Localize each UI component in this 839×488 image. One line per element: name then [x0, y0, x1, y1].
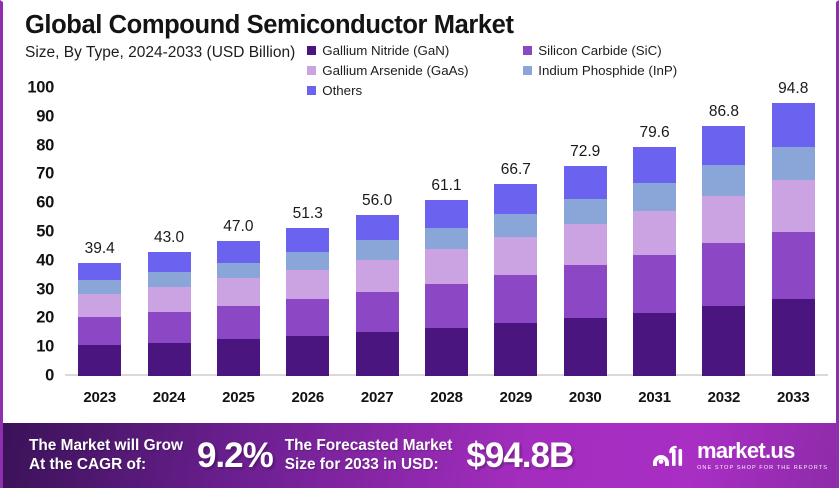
bar-segment[interactable]: [78, 294, 121, 317]
y-axis-tick: 40: [36, 251, 54, 270]
legend-item[interactable]: Gallium Arsenide (GaAs): [307, 63, 523, 78]
bar-total-label: 66.7: [501, 161, 531, 179]
bar-segment[interactable]: [286, 228, 329, 252]
infographic-root: Global Compound Semiconductor Market Siz…: [0, 0, 839, 488]
bar-segment[interactable]: [633, 147, 676, 183]
y-axis-tick: 60: [36, 194, 54, 213]
bar-segment[interactable]: [425, 249, 468, 284]
forecast-label: The Forecasted Market Size for 2033 in U…: [285, 437, 453, 475]
bar-segment[interactable]: [286, 270, 329, 299]
bar-total-label: 56.0: [362, 192, 392, 210]
bar-slot: 51.3: [273, 88, 342, 376]
legend-item[interactable]: Silicon Carbide (SiC): [523, 43, 739, 58]
bar-segment[interactable]: [425, 284, 468, 328]
bar-segment[interactable]: [494, 184, 537, 214]
bar-slot: 66.7: [481, 88, 550, 376]
x-axis-label: 2032: [689, 389, 758, 406]
bar-segment[interactable]: [494, 237, 537, 274]
bar-segment[interactable]: [702, 196, 745, 244]
bar-segment[interactable]: [425, 228, 468, 249]
summary-banner: The Market will Grow At the CAGR of: 9.2…: [3, 423, 839, 488]
bar-total-label: 79.6: [639, 124, 669, 142]
bar-segment[interactable]: [633, 211, 676, 255]
legend-label: Gallium Nitride (GaN): [322, 43, 449, 58]
bar-segment[interactable]: [356, 240, 399, 259]
bar-segment[interactable]: [78, 280, 121, 293]
bar-segment[interactable]: [633, 183, 676, 211]
cagr-value: 9.2%: [197, 436, 273, 476]
bar-segment[interactable]: [494, 214, 537, 237]
bar-segment[interactable]: [772, 103, 815, 146]
bar-slot: 56.0: [342, 88, 411, 376]
stacked-bar[interactable]: [148, 252, 191, 376]
cagr-label-line1: The Market will Grow: [29, 437, 183, 454]
bar-segment[interactable]: [286, 299, 329, 336]
forecast-label-line2: Size for 2033 in USD:: [285, 456, 439, 473]
stacked-bar[interactable]: [564, 166, 607, 376]
forecast-value: $94.8B: [466, 436, 573, 476]
legend-swatch-icon: [523, 66, 532, 75]
stacked-bar[interactable]: [633, 147, 676, 376]
bar-segment[interactable]: [286, 336, 329, 376]
x-axis-label: 2026: [273, 389, 342, 406]
bar-segment[interactable]: [564, 166, 607, 199]
bar-segment[interactable]: [148, 252, 191, 272]
page-title: Global Compound Semiconductor Market: [25, 12, 836, 40]
bar-segment[interactable]: [217, 339, 260, 376]
bar-segment[interactable]: [772, 299, 815, 376]
chart-area: 0102030405060708090100 39.443.047.051.35…: [3, 88, 839, 418]
bar-total-label: 39.4: [85, 240, 115, 258]
x-axis-label: 2027: [342, 389, 411, 406]
bar-segment[interactable]: [217, 278, 260, 305]
y-axis: 0102030405060708090100: [3, 88, 63, 376]
y-axis-tick: 100: [27, 79, 54, 98]
bar-segment[interactable]: [702, 243, 745, 306]
bar-segment[interactable]: [425, 328, 468, 376]
stacked-bar[interactable]: [772, 103, 815, 376]
x-axis-label: 2025: [204, 389, 273, 406]
y-axis-tick: 90: [36, 107, 54, 126]
bar-segment[interactable]: [78, 345, 121, 376]
bar-slot: 94.8: [759, 88, 828, 376]
y-axis-tick: 50: [36, 223, 54, 242]
bar-segment[interactable]: [356, 332, 399, 376]
bar-segment[interactable]: [356, 215, 399, 241]
bar-total-label: 47.0: [223, 218, 253, 236]
forecast-label-line1: The Forecasted Market: [285, 437, 453, 454]
bar-slot: 47.0: [204, 88, 273, 376]
legend-label: Indium Phosphide (InP): [538, 63, 677, 78]
bar-slot: 79.6: [620, 88, 689, 376]
stacked-bar[interactable]: [356, 215, 399, 376]
y-axis-tick: 30: [36, 280, 54, 299]
bar-slot: 61.1: [412, 88, 481, 376]
stacked-bar[interactable]: [494, 184, 537, 376]
bar-segment[interactable]: [356, 260, 399, 292]
bar-segment[interactable]: [494, 275, 537, 324]
bar-segment[interactable]: [772, 147, 815, 180]
bar-slot: 72.9: [551, 88, 620, 376]
bar-segment[interactable]: [148, 343, 191, 376]
stacked-bar[interactable]: [702, 126, 745, 376]
y-axis-tick: 20: [36, 309, 54, 328]
cagr-label-line2: At the CAGR of:: [29, 456, 146, 473]
logo-name: market.us: [697, 440, 828, 462]
legend-swatch-icon: [523, 46, 532, 55]
x-axis-label: 2030: [551, 389, 620, 406]
bar-segment[interactable]: [564, 265, 607, 318]
legend-swatch-icon: [307, 66, 316, 75]
bar-total-label: 72.9: [570, 143, 600, 161]
bar-total-label: 86.8: [709, 103, 739, 121]
bar-segment[interactable]: [564, 224, 607, 265]
legend-label: Silicon Carbide (SiC): [538, 43, 661, 58]
stacked-bar[interactable]: [425, 200, 468, 376]
market-us-logo-text: market.us ONE STOP SHOP FOR THE REPORTS: [697, 440, 828, 471]
x-axis-label: 2031: [620, 389, 689, 406]
bar-segment[interactable]: [425, 200, 468, 228]
bar-segment[interactable]: [564, 199, 607, 224]
bar-segment[interactable]: [148, 312, 191, 343]
bar-segment[interactable]: [702, 165, 745, 196]
bar-slot: 43.0: [134, 88, 203, 376]
chart-subtitle: Size, By Type, 2024-2033 (USD Billion): [25, 43, 295, 62]
bar-segment[interactable]: [148, 272, 191, 286]
bar-segment[interactable]: [148, 287, 191, 312]
x-axis-label: 2028: [412, 389, 481, 406]
bar-segment[interactable]: [772, 232, 815, 299]
bar-total-label: 43.0: [154, 229, 184, 247]
stacked-bar[interactable]: [286, 228, 329, 376]
bar-segment[interactable]: [494, 323, 537, 376]
bar-segment[interactable]: [633, 313, 676, 376]
bar-segment[interactable]: [217, 263, 260, 279]
y-axis-tick: 0: [45, 367, 54, 386]
y-axis-tick: 80: [36, 136, 54, 155]
x-axis-label: 2029: [481, 389, 550, 406]
x-axis-labels: 2023202420252026202720282029203020312032…: [65, 384, 828, 410]
bar-segment[interactable]: [633, 255, 676, 313]
y-axis-tick: 10: [36, 338, 54, 357]
legend-swatch-icon: [307, 46, 316, 55]
y-axis-tick: 70: [36, 165, 54, 184]
bar-segment[interactable]: [702, 306, 745, 376]
legend-item[interactable]: Gallium Nitride (GaN): [307, 43, 523, 58]
x-axis-label: 2024: [134, 389, 203, 406]
bar-slot: 39.4: [65, 88, 134, 376]
bar-segment[interactable]: [217, 306, 260, 340]
bar-total-label: 94.8: [778, 80, 808, 98]
bar-segment[interactable]: [356, 292, 399, 333]
bar-segment[interactable]: [286, 252, 329, 270]
legend-label: Gallium Arsenide (GaAs): [322, 63, 468, 78]
market-us-logo-icon: [650, 442, 690, 470]
stacked-bar[interactable]: [78, 263, 121, 376]
bar-slot: 86.8: [689, 88, 758, 376]
bar-segment[interactable]: [78, 317, 121, 345]
bar-segment[interactable]: [217, 241, 260, 263]
bar-segment[interactable]: [564, 318, 607, 376]
x-axis-label: 2023: [65, 389, 134, 406]
x-axis-label: 2033: [759, 389, 828, 406]
chart-header: Global Compound Semiconductor Market Siz…: [3, 2, 836, 98]
bar-total-label: 61.1: [431, 177, 461, 195]
bar-group: 39.443.047.051.356.061.166.772.979.686.8…: [65, 88, 828, 376]
logo-tagline: ONE STOP SHOP FOR THE REPORTS: [697, 465, 828, 471]
bar-segment[interactable]: [702, 126, 745, 165]
bar-segment[interactable]: [78, 263, 121, 281]
legend-item[interactable]: Indium Phosphide (InP): [523, 63, 739, 78]
stacked-bar[interactable]: [217, 241, 260, 376]
bar-total-label: 51.3: [293, 205, 323, 223]
cagr-label: The Market will Grow At the CAGR of:: [29, 437, 183, 475]
market-us-logo[interactable]: market.us ONE STOP SHOP FOR THE REPORTS: [650, 440, 828, 471]
bar-segment[interactable]: [772, 180, 815, 232]
